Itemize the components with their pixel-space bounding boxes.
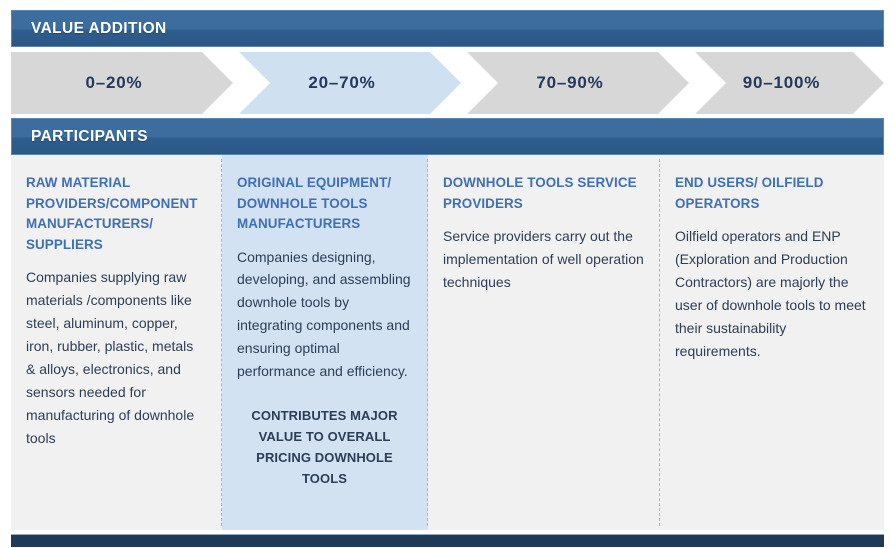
participant-body: Companies supplying raw materials /compo… [26, 266, 206, 450]
participant-heading: RAW MATERIAL PROVIDERS/COMPONENT MANUFAC… [26, 173, 206, 255]
participant-body: Oilfield operators and ENP (Exploration … [675, 225, 868, 363]
participant-column-end-users: END USERS/ OILFIELD OPERATORS Oilfield o… [660, 155, 884, 530]
value-chain-infographic: VALUE ADDITION 0–20% 20–70% 70–90% 90–10… [0, 0, 895, 548]
participant-body: Companies designing, developing, and ass… [237, 246, 412, 384]
participant-column-service-providers: DOWNHOLE TOOLS SERVICE PROVIDERS Service… [428, 155, 660, 530]
section-header-participants: PARTICIPANTS [11, 118, 884, 155]
participant-heading: DOWNHOLE TOOLS SERVICE PROVIDERS [443, 173, 644, 214]
chevron-step-4: 90–100% [695, 52, 884, 114]
section-title-participants: PARTICIPANTS [12, 128, 148, 146]
chevron-step-3-label: 70–90% [536, 73, 603, 93]
bottom-accent-bar [11, 534, 884, 547]
chevron-step-2-label: 20–70% [308, 73, 375, 93]
value-addition-chevron-band: 0–20% 20–70% 70–90% 90–100% [11, 52, 884, 114]
participant-body: Service providers carry out the implemen… [443, 225, 644, 294]
section-header-value-addition: VALUE ADDITION [11, 10, 884, 47]
chevron-step-1: 0–20% [11, 52, 233, 114]
participant-column-oem: ORIGINAL EQUIPMENT/ DOWNHOLE TOOLS MANUF… [222, 155, 428, 530]
section-title-value-addition: VALUE ADDITION [12, 20, 167, 38]
participant-column-raw-material: RAW MATERIAL PROVIDERS/COMPONENT MANUFAC… [11, 155, 222, 530]
chevron-step-3: 70–90% [467, 52, 689, 114]
chevron-step-2: 20–70% [239, 52, 461, 114]
chevron-step-4-label: 90–100% [743, 73, 820, 93]
participants-columns: RAW MATERIAL PROVIDERS/COMPONENT MANUFAC… [11, 155, 884, 530]
chevron-step-1-label: 0–20% [86, 73, 143, 93]
participant-heading: END USERS/ OILFIELD OPERATORS [675, 173, 868, 214]
participant-highlight-note: CONTRIBUTES MAJOR VALUE TO OVERALL PRICI… [243, 405, 406, 489]
participant-heading: ORIGINAL EQUIPMENT/ DOWNHOLE TOOLS MANUF… [237, 173, 412, 235]
